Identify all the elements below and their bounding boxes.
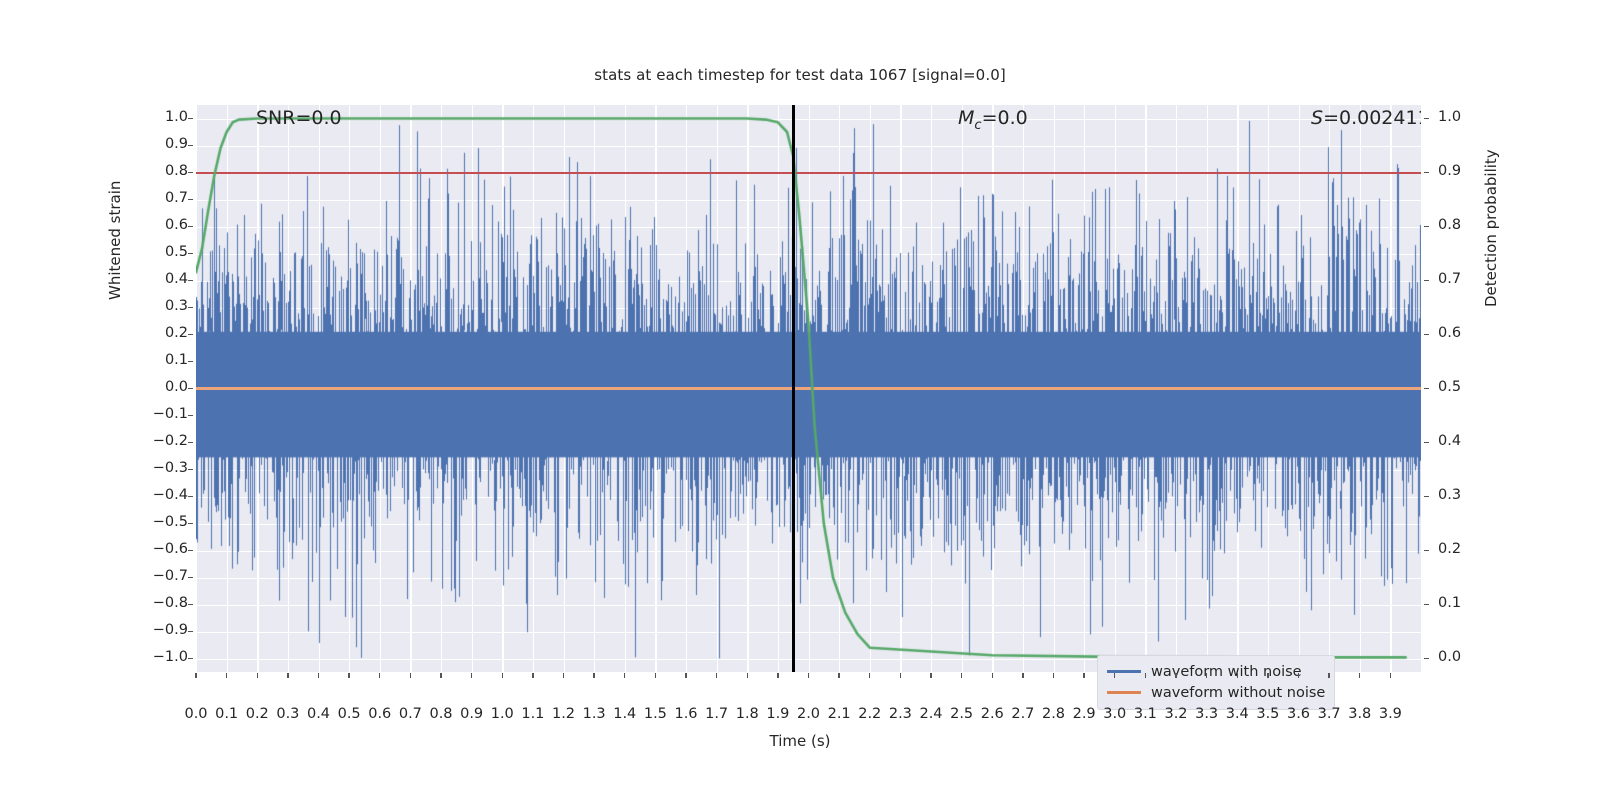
- x-tick-label: 2.3: [889, 706, 912, 722]
- x-tick-label: 1.0: [491, 706, 514, 722]
- y-tick-label-left: 0.2: [165, 325, 188, 341]
- x-tick-label: 0.7: [399, 706, 422, 722]
- y-tick-label-left: −0.8: [153, 595, 188, 611]
- x-tick-mark: [900, 673, 901, 678]
- x-tick-label: 2.1: [828, 706, 851, 722]
- y-tick-mark-right: [1424, 496, 1429, 497]
- y-tick-mark-right: [1424, 280, 1429, 281]
- x-tick-label: 2.7: [1011, 706, 1034, 722]
- y-tick-mark-right: [1424, 334, 1429, 335]
- x-tick-mark: [440, 673, 441, 678]
- y-tick-label-right: 0.9: [1438, 163, 1461, 179]
- x-tick-label: 0.3: [276, 706, 299, 722]
- y-tick-label-right: 0.1: [1438, 595, 1461, 611]
- legend-item[interactable]: waveform with noise: [1107, 661, 1325, 682]
- x-tick-mark: [1083, 673, 1084, 678]
- y-tick-label-right: 0.6: [1438, 325, 1461, 341]
- x-axis-label: Time (s): [0, 732, 1600, 750]
- x-tick-mark: [379, 673, 380, 678]
- x-tick-mark: [869, 673, 870, 678]
- x-tick-mark: [563, 673, 564, 678]
- x-tick-label: 0.0: [184, 706, 207, 722]
- y-tick-mark-left: [188, 550, 193, 551]
- x-tick-mark: [1175, 673, 1176, 678]
- x-tick-mark: [1114, 673, 1115, 678]
- y-tick-label-left: −0.1: [153, 406, 188, 422]
- detection-probability-series: [196, 105, 1421, 672]
- y-tick-mark-left: [188, 604, 193, 605]
- x-tick-mark: [1267, 673, 1268, 678]
- y-tick-mark-right: [1424, 442, 1429, 443]
- y-tick-label-left: 0.3: [165, 298, 188, 314]
- x-tick-label: 3.0: [1103, 706, 1126, 722]
- statistic-value: =0.002411856316030025: [1323, 107, 1421, 129]
- x-tick-label: 1.6: [674, 706, 697, 722]
- x-tick-mark: [1022, 673, 1023, 678]
- x-tick-label: 1.4: [613, 706, 636, 722]
- x-tick-label: 0.6: [368, 706, 391, 722]
- x-tick-label: 0.9: [460, 706, 483, 722]
- y-tick-mark-left: [188, 658, 193, 659]
- x-tick-mark: [1390, 673, 1391, 678]
- legend-color-swatch: [1107, 670, 1141, 672]
- x-tick-mark: [992, 673, 993, 678]
- x-tick-label: 2.2: [858, 706, 881, 722]
- y-tick-label-right: 0.7: [1438, 271, 1461, 287]
- legend-label: waveform without noise: [1151, 685, 1325, 701]
- y-tick-label-right: 1.0: [1438, 109, 1461, 125]
- y-tick-mark-left: [188, 118, 193, 119]
- x-tick-mark: [593, 673, 594, 678]
- y-tick-label-left: 0.1: [165, 352, 188, 368]
- x-tick-mark: [685, 673, 686, 678]
- x-tick-mark: [502, 673, 503, 678]
- x-tick-label: 1.9: [766, 706, 789, 722]
- y-tick-mark-left: [188, 280, 193, 281]
- x-tick-mark: [410, 673, 411, 678]
- x-tick-mark: [808, 673, 809, 678]
- x-tick-label: 0.8: [429, 706, 452, 722]
- legend: waveform with noisewaveform without nois…: [1097, 655, 1335, 710]
- x-tick-mark: [471, 673, 472, 678]
- x-tick-mark: [624, 673, 625, 678]
- x-tick-label: 1.3: [583, 706, 606, 722]
- annotation-snr: SNR=0.0: [256, 107, 342, 129]
- x-tick-mark: [1328, 673, 1329, 678]
- x-tick-mark: [930, 673, 931, 678]
- chirp-mass-value: =0.0: [982, 107, 1028, 129]
- x-tick-label: 3.2: [1164, 706, 1187, 722]
- x-tick-label: 0.4: [307, 706, 330, 722]
- x-tick-mark: [747, 673, 748, 678]
- y-tick-label-right: 0.2: [1438, 541, 1461, 557]
- x-tick-label: 0.2: [246, 706, 269, 722]
- y-tick-label-right: 0.4: [1438, 433, 1461, 449]
- y-tick-label-left: −0.5: [153, 514, 188, 530]
- x-tick-mark: [1298, 673, 1299, 678]
- x-tick-mark: [1206, 673, 1207, 678]
- y-tick-label-right: 0.8: [1438, 217, 1461, 233]
- y-tick-mark-right: [1424, 172, 1429, 173]
- y-tick-mark-right: [1424, 226, 1429, 227]
- x-tick-label: 3.5: [1256, 706, 1279, 722]
- y-tick-label-left: −0.6: [153, 541, 188, 557]
- y-tick-mark-right: [1424, 658, 1429, 659]
- x-tick-mark: [777, 673, 778, 678]
- y-tick-label-left: 0.4: [165, 271, 188, 287]
- y-tick-label-right: 0.5: [1438, 379, 1461, 395]
- y-tick-label-left: 1.0: [165, 109, 188, 125]
- x-tick-mark: [226, 673, 227, 678]
- x-tick-mark: [1145, 673, 1146, 678]
- x-tick-label: 0.5: [338, 706, 361, 722]
- y-tick-label-left: −0.9: [153, 622, 188, 638]
- y-tick-mark-right: [1424, 388, 1429, 389]
- merger-time-marker: [792, 105, 795, 672]
- y-tick-mark-left: [188, 172, 193, 173]
- x-tick-mark: [348, 673, 349, 678]
- x-tick-mark: [318, 673, 319, 678]
- y-tick-mark-left: [188, 577, 193, 578]
- annotation-chirp-mass: Mc=0.0: [958, 107, 1028, 133]
- y-tick-label-left: 0.7: [165, 190, 188, 206]
- legend-color-swatch: [1107, 691, 1141, 693]
- x-tick-label: 3.4: [1226, 706, 1249, 722]
- x-tick-mark: [716, 673, 717, 678]
- x-tick-label: 3.3: [1195, 706, 1218, 722]
- x-tick-mark: [1237, 673, 1238, 678]
- x-tick-label: 3.8: [1348, 706, 1371, 722]
- y-tick-label-left: 0.0: [165, 379, 188, 395]
- y-tick-mark-right: [1424, 604, 1429, 605]
- y-tick-label-left: −0.2: [153, 433, 188, 449]
- y-tick-label-left: −1.0: [153, 649, 188, 665]
- x-tick-label: 2.6: [981, 706, 1004, 722]
- y-axis-label-left: Whitened strain: [106, 181, 124, 300]
- y-tick-mark-left: [188, 496, 193, 497]
- y-tick-mark-left: [188, 334, 193, 335]
- x-tick-label: 0.1: [215, 706, 238, 722]
- x-tick-mark: [961, 673, 962, 678]
- plot-axes: SNR=0.0 Mc=0.0 S=0.002411856316030025: [196, 105, 1421, 672]
- y-tick-mark-left: [188, 469, 193, 470]
- y-tick-mark-left: [188, 631, 193, 632]
- x-tick-label: 3.1: [1134, 706, 1157, 722]
- y-tick-label-left: 0.8: [165, 163, 188, 179]
- chirp-mass-symbol: M: [958, 107, 974, 129]
- legend-label: waveform with noise: [1151, 664, 1302, 680]
- x-tick-label: 1.8: [736, 706, 759, 722]
- y-tick-mark-right: [1424, 118, 1429, 119]
- figure: stats at each timestep for test data 106…: [0, 0, 1600, 800]
- y-tick-mark-left: [188, 442, 193, 443]
- y-tick-mark-left: [188, 415, 193, 416]
- x-tick-label: 2.5: [950, 706, 973, 722]
- y-tick-label-left: −0.4: [153, 487, 188, 503]
- annotation-statistic: S=0.002411856316030025: [1311, 107, 1421, 129]
- x-tick-mark: [195, 673, 196, 678]
- y-tick-mark-left: [188, 145, 193, 146]
- x-tick-label: 2.0: [797, 706, 820, 722]
- y-tick-mark-right: [1424, 550, 1429, 551]
- x-tick-label: 3.6: [1287, 706, 1310, 722]
- x-tick-mark: [655, 673, 656, 678]
- y-tick-mark-left: [188, 388, 193, 389]
- x-tick-mark: [532, 673, 533, 678]
- y-tick-label-left: 0.5: [165, 244, 188, 260]
- x-tick-mark: [257, 673, 258, 678]
- x-tick-label: 2.9: [1073, 706, 1096, 722]
- y-tick-label-left: −0.7: [153, 568, 188, 584]
- x-tick-mark: [1053, 673, 1054, 678]
- y-tick-mark-left: [188, 361, 193, 362]
- y-tick-label-left: −0.3: [153, 460, 188, 476]
- x-tick-label: 1.1: [521, 706, 544, 722]
- x-tick-label: 1.5: [644, 706, 667, 722]
- x-tick-mark: [287, 673, 288, 678]
- y-tick-label-right: 0.3: [1438, 487, 1461, 503]
- chirp-mass-subscript: c: [974, 118, 981, 133]
- x-tick-label: 1.7: [705, 706, 728, 722]
- x-tick-label: 3.7: [1318, 706, 1341, 722]
- x-tick-label: 1.2: [552, 706, 575, 722]
- y-tick-label-left: 0.9: [165, 136, 188, 152]
- x-tick-label: 3.9: [1379, 706, 1402, 722]
- y-tick-mark-left: [188, 226, 193, 227]
- x-tick-mark: [1359, 673, 1360, 678]
- legend-item[interactable]: waveform without noise: [1107, 682, 1325, 703]
- y-tick-mark-left: [188, 253, 193, 254]
- statistic-symbol: S: [1311, 107, 1323, 129]
- y-tick-label-left: 0.6: [165, 217, 188, 233]
- x-tick-mark: [838, 673, 839, 678]
- y-tick-mark-left: [188, 523, 193, 524]
- x-tick-label: 2.8: [1042, 706, 1065, 722]
- chart-title: stats at each timestep for test data 106…: [0, 66, 1600, 84]
- y-tick-mark-left: [188, 307, 193, 308]
- y-tick-mark-left: [188, 199, 193, 200]
- x-tick-label: 2.4: [919, 706, 942, 722]
- y-tick-label-right: 0.0: [1438, 649, 1461, 665]
- y-axis-label-right: Detection probability: [1482, 149, 1500, 307]
